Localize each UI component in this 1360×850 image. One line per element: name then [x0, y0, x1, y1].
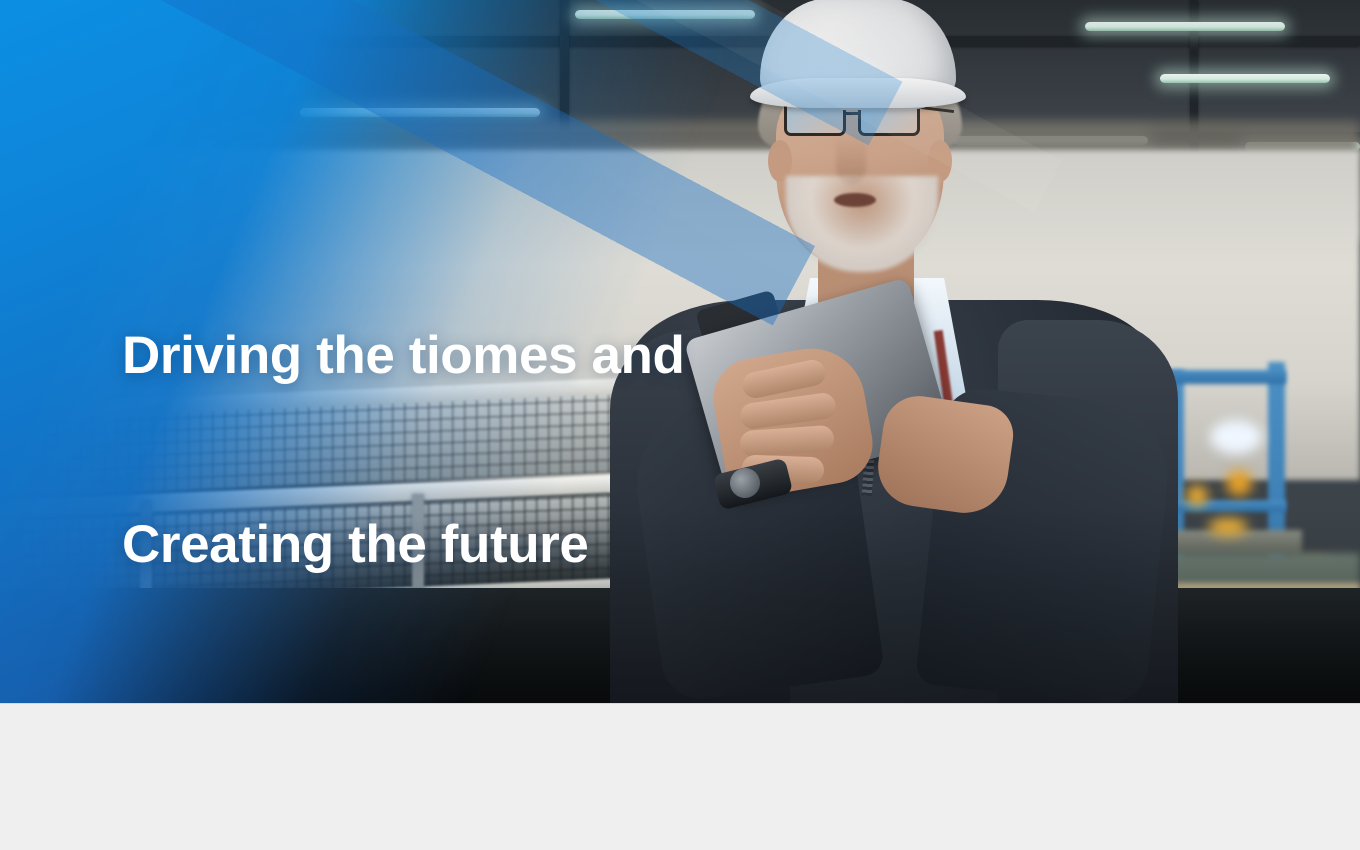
- page-title: Driving the tiomes and Creating the futu…: [122, 198, 685, 702]
- headline-line-2: Creating the future: [122, 513, 685, 576]
- headline-line-1: Driving the tiomes and: [122, 324, 685, 387]
- hero-section: Driving the tiomes and Creating the futu…: [0, 0, 1360, 703]
- footer-bar: Focus on product creation, intelligent p…: [0, 703, 1360, 850]
- hero-banner-page: Driving the tiomes and Creating the futu…: [0, 0, 1360, 850]
